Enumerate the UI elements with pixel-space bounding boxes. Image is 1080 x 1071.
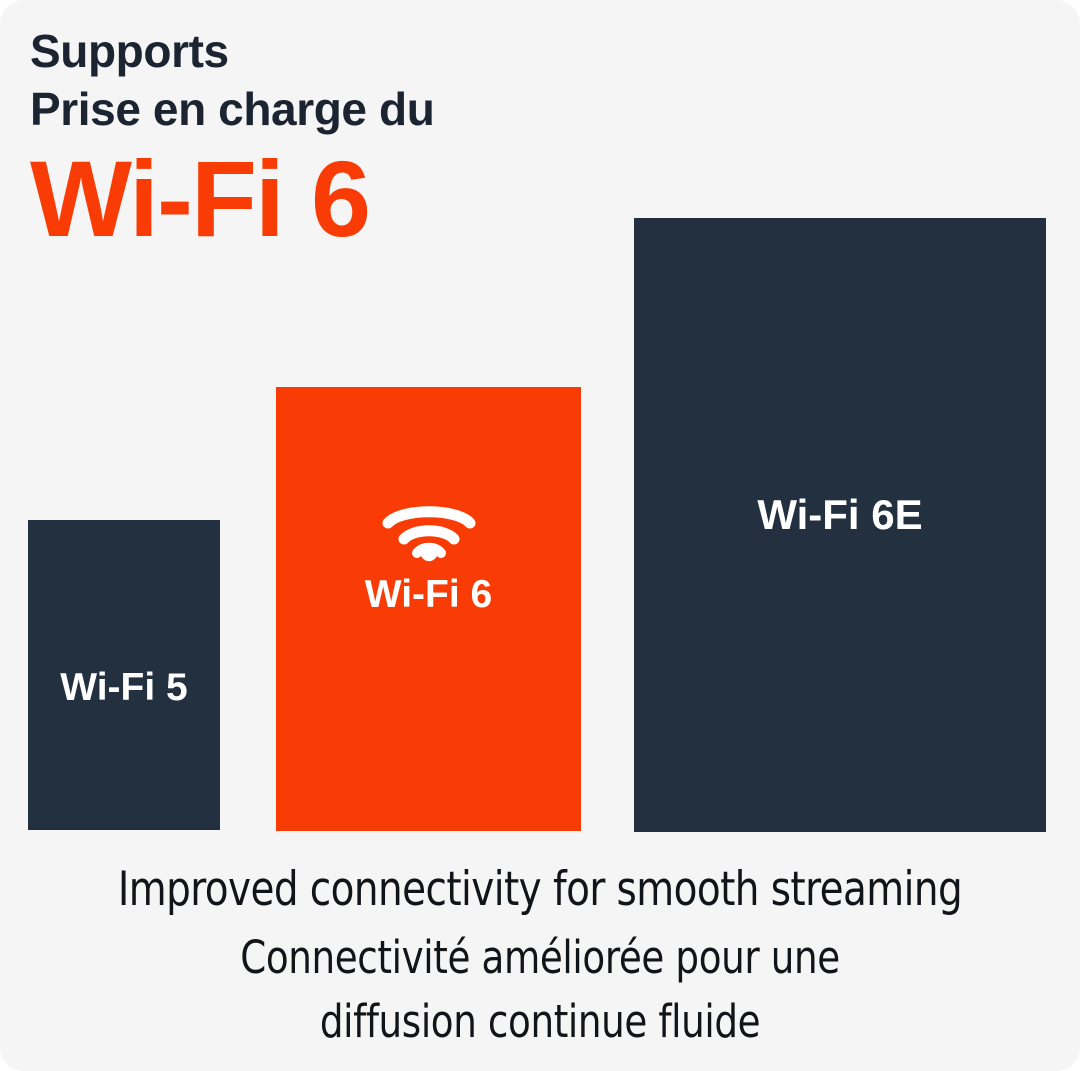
bar-wifi6e: Wi-Fi 6E	[634, 218, 1046, 832]
caption-french-line2: diffusion continue fluide	[43, 992, 1037, 1052]
bar-label-wifi6e: Wi-Fi 6E	[757, 492, 922, 538]
caption-block: Improved connectivity for smooth streami…	[0, 856, 1080, 1052]
bar-wifi6: Wi-Fi 6	[276, 387, 581, 831]
caption-english: Improved connectivity for smooth streami…	[43, 856, 1037, 924]
wifi-generation-bar-chart: Wi-Fi 5 Wi-Fi 6 Wi-Fi 6E	[0, 0, 1080, 860]
bar-wifi5: Wi-Fi 5	[28, 520, 220, 830]
bar-label-wifi6: Wi-Fi 6	[365, 573, 492, 617]
wifi-icon	[380, 501, 478, 567]
infographic-card: Supports Prise en charge du Wi-Fi 6 Wi-F…	[0, 0, 1080, 1071]
caption-french-line1: Connectivité améliorée pour une	[43, 928, 1037, 988]
bar-label-wifi5: Wi-Fi 5	[60, 666, 187, 710]
